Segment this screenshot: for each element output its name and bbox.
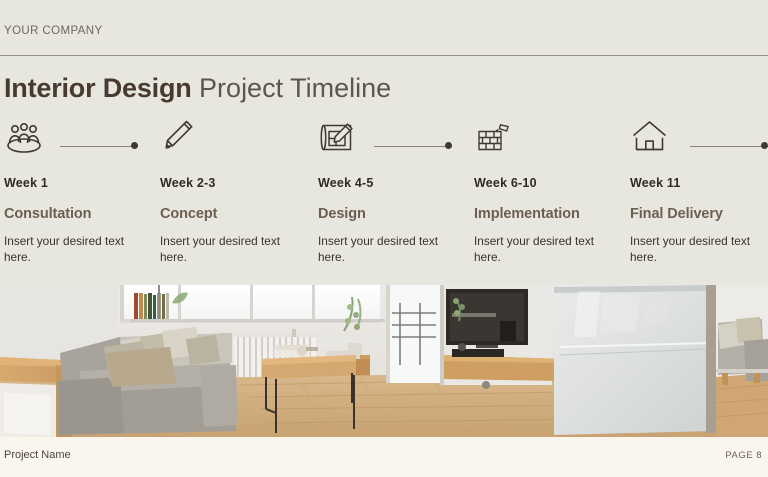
meeting-people-icon (4, 118, 154, 162)
step-body-text: Insert your desired text here. (318, 233, 450, 265)
timeline-step-1[interactable]: Week 1 Consultation Insert your desired … (4, 118, 154, 265)
page-title: Interior Design Project Timeline (4, 71, 391, 105)
house-icon (630, 118, 768, 162)
timeline: Week 1 Consultation Insert your desired … (0, 118, 768, 283)
connector-line (60, 146, 138, 147)
timeline-step-3[interactable]: Week 4-5 Design Insert your desired text… (318, 118, 468, 265)
connector-dot (131, 142, 138, 149)
timeline-step-2[interactable]: Week 2-3 Concept Insert your desired tex… (160, 118, 310, 265)
slide-header: YOUR COMPANY (0, 0, 768, 56)
step-body-text: Insert your desired text here. (4, 233, 136, 265)
slide: YOUR COMPANY Interior Design Project Tim… (0, 0, 768, 477)
blueprint-pencil-icon (318, 118, 468, 162)
step-phase-label: Consultation (4, 206, 154, 222)
timeline-connector-1 (60, 142, 138, 150)
slide-footer: Project Name PAGE 8 (0, 437, 768, 477)
page-title-strong: Interior Design (4, 73, 192, 103)
timeline-step-5[interactable]: Week 11 Final Delivery Insert your desir… (630, 118, 768, 265)
step-phase-label: Implementation (474, 206, 624, 222)
step-week-label: Week 6-10 (474, 176, 624, 190)
step-phase-label: Final Delivery (630, 206, 768, 222)
header-divider (0, 55, 768, 56)
page-title-light: Project Timeline (199, 73, 391, 103)
company-name: YOUR COMPANY (4, 25, 103, 37)
project-name-label: Project Name (4, 449, 71, 461)
step-week-label: Week 1 (4, 176, 154, 190)
step-body-text: Insert your desired text here. (160, 233, 292, 265)
brick-wall-trowel-icon (474, 118, 624, 162)
step-phase-label: Concept (160, 206, 310, 222)
step-week-label: Week 2-3 (160, 176, 310, 190)
pencil-icon (160, 118, 310, 162)
step-body-text: Insert your desired text here. (474, 233, 606, 265)
interior-living-room-photo (0, 285, 768, 437)
timeline-step-4[interactable]: Week 6-10 Implementation Insert your des… (474, 118, 624, 265)
page-number-label: PAGE 8 (725, 450, 762, 461)
step-week-label: Week 11 (630, 176, 768, 190)
step-body-text: Insert your desired text here. (630, 233, 762, 265)
step-phase-label: Design (318, 206, 468, 222)
step-week-label: Week 4-5 (318, 176, 468, 190)
